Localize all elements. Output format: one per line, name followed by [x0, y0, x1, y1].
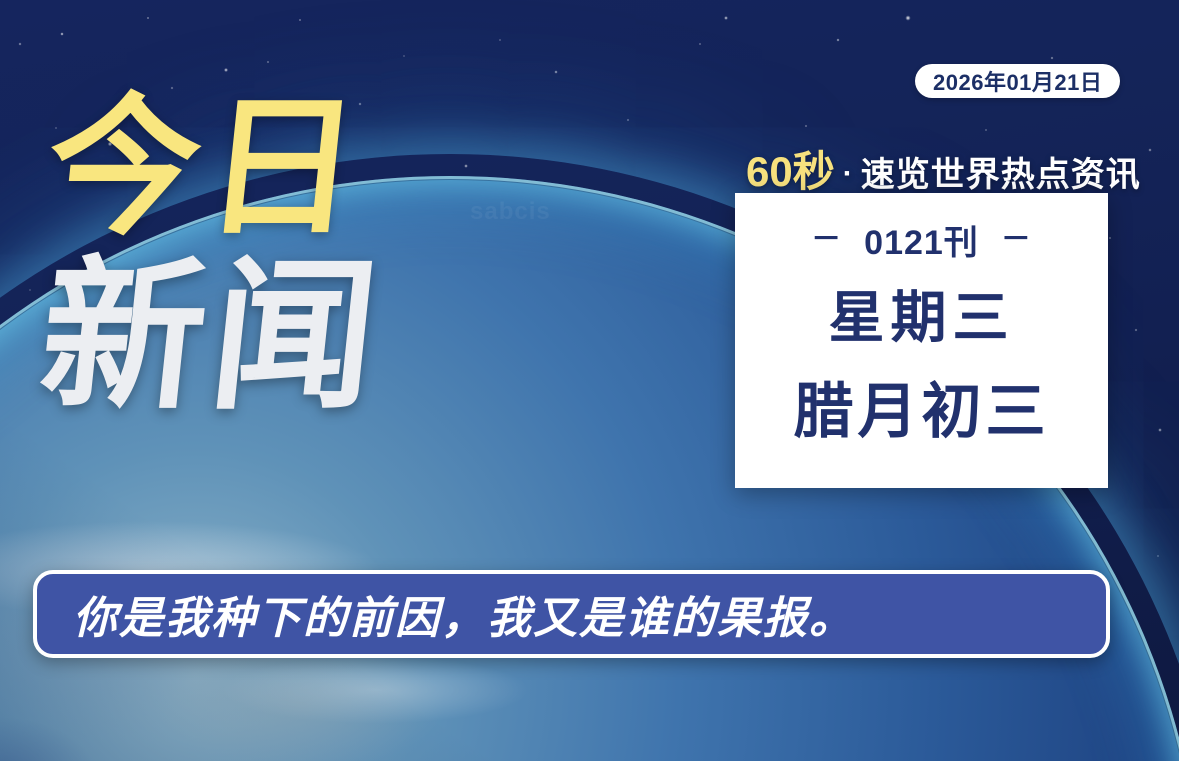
- date-badge: 2026年01月21日: [915, 64, 1120, 98]
- background-watermark: sabcis: [470, 198, 551, 226]
- tagline: 60秒 · 速览世界热点资讯: [746, 138, 1141, 199]
- issue-dash-right: －: [1001, 225, 1032, 255]
- weekday-label: 星期三: [829, 290, 1015, 346]
- issue-info-card: － 0121刊 － 星期三 腊月初三: [735, 193, 1108, 488]
- tagline-seconds: 60秒: [746, 138, 835, 199]
- brand-title: 今日 新闻: [48, 96, 478, 415]
- brand-title-line-2: 新闻: [34, 258, 487, 415]
- issue-number: 0121刊: [864, 215, 979, 264]
- issue-dash-left: －: [811, 225, 842, 255]
- lunar-date-label: 腊月初三: [794, 382, 1050, 442]
- quote-text: 你是我种下的前因，我又是谁的果报。: [73, 582, 855, 646]
- news-poster-stage: sabcis 今日 新闻 2026年01月21日 60秒 · 速览世界热点资讯 …: [0, 0, 1179, 761]
- quote-banner: 你是我种下的前因，我又是谁的果报。: [33, 570, 1110, 658]
- issue-number-row: － 0121刊 －: [811, 215, 1032, 264]
- tagline-separator-dot: ·: [843, 157, 853, 191]
- tagline-text: 速览世界热点资讯: [861, 147, 1141, 196]
- brand-title-line-1: 今日: [40, 96, 485, 242]
